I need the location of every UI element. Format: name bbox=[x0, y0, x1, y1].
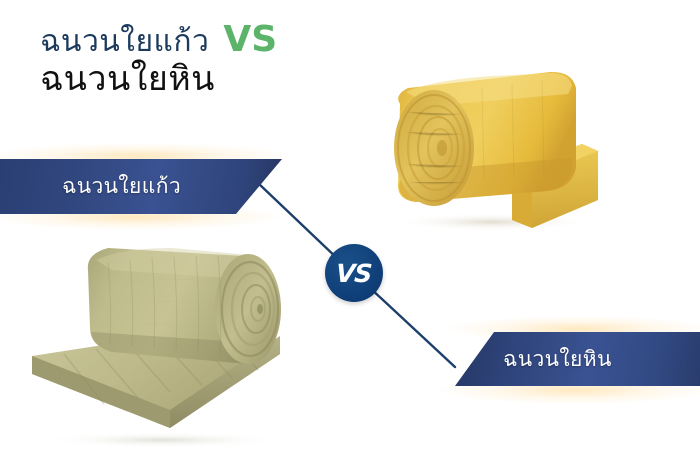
vs-badge-label: VS bbox=[335, 261, 372, 286]
headline-block: ฉนวนใยแก้ว VS ฉนวนใยหิน bbox=[40, 22, 370, 98]
left-banner-label: ฉนวนใยแก้ว bbox=[62, 170, 181, 203]
infographic-canvas: ฉนวนใยแก้ว VS ฉนวนใยหิน ฉนวนใยแก้ว ฉนวนใ… bbox=[0, 0, 700, 450]
vs-badge: VS bbox=[325, 244, 383, 302]
connector-line-bottom bbox=[369, 287, 455, 367]
glass-wool-image bbox=[372, 52, 600, 230]
headline-row-1: ฉนวนใยแก้ว VS bbox=[40, 22, 370, 58]
right-banner-label: ฉนวนใยหิน bbox=[503, 343, 612, 376]
headline-vs-text: VS bbox=[223, 22, 277, 58]
rock-wool-image bbox=[12, 232, 304, 448]
right-banner-rockwool[interactable]: ฉนวนใยหิน bbox=[455, 332, 700, 386]
headline-glasswool-text: ฉนวนใยแก้ว bbox=[40, 26, 209, 58]
left-banner-glasswool[interactable]: ฉนวนใยแก้ว bbox=[0, 159, 282, 214]
headline-rockwool-text: ฉนวนใยหิน bbox=[40, 62, 370, 98]
